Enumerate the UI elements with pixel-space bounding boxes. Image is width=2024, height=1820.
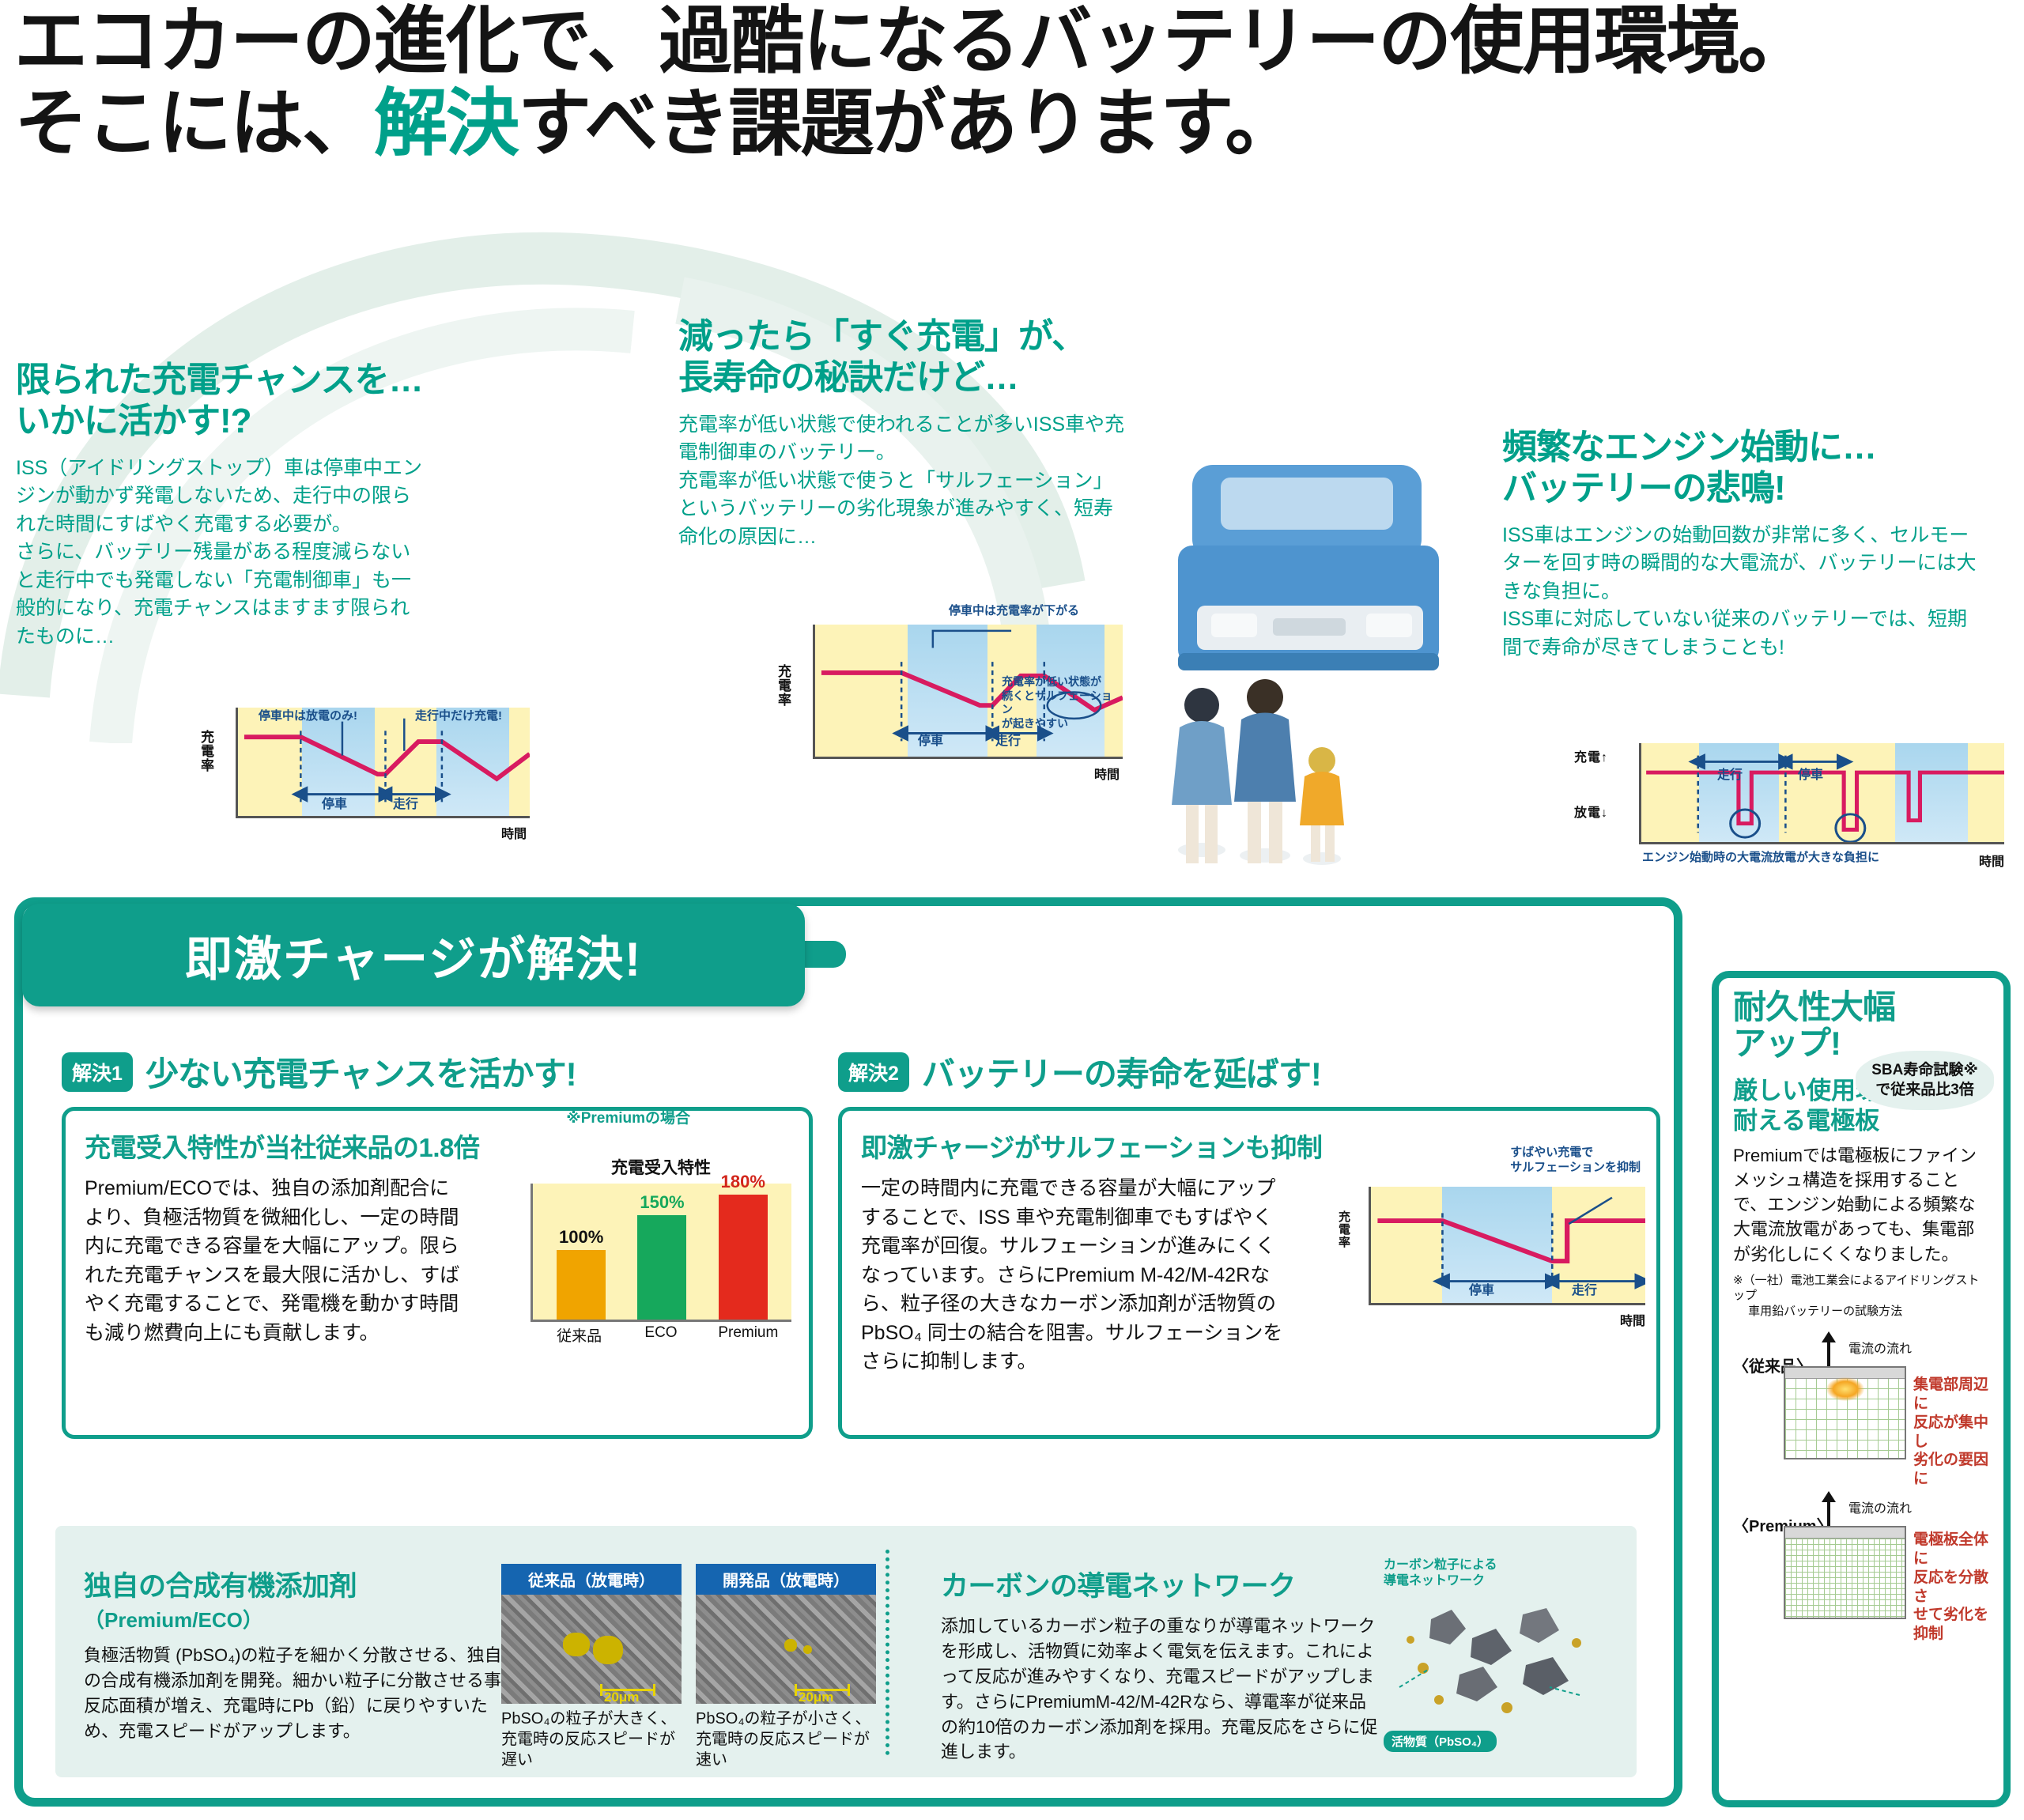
chart-soc-iss: 充電率 停車中は放電のみ! 走行中 [198, 708, 530, 818]
sem-photo-conventional: 20μm [501, 1595, 682, 1704]
chart-soc-iss-xlabel: 時間 [501, 823, 527, 842]
current-label-conventional: 電流の流れ [1848, 1338, 1912, 1357]
headline-line-1: エコカーの進化で、過酷になるバッテリーの使用環境。 [14, 0, 2022, 82]
chart-sulfation-ylabel: 充電率 [1335, 1210, 1352, 1248]
chart-soc-low-xlabel: 時間 [1094, 764, 1120, 783]
problem-3-title-line2: バッテリーの悲鳴! [1502, 469, 1785, 508]
problem-1-title-line1: 限られた充電チャンスを… [16, 361, 423, 399]
bar-value-0: 100% [559, 1227, 603, 1248]
headline-line-2: そこには、解決すべき課題があります。 [14, 82, 2022, 164]
durability-body: Premiumでは電極板にファインメッシュ構造を採用することで、エンジン始動によ… [1733, 1143, 1989, 1267]
problem-1-title-line2: いかに活かす!? [16, 402, 251, 440]
problem-1-title: 限られた充電チャンスを… いかに活かす!? [16, 360, 427, 442]
additive-block: 独自の合成有機添加剤 （Premium/ECO） 負極活物質 (PbSO₄)の粒… [84, 1564, 519, 1744]
chart-sulfation-xlabel: 時間 [1620, 1310, 1645, 1329]
current-arrow-premium [1817, 1491, 1841, 1526]
carbon-network-body: 添加しているカーボン粒子の重なりが導電ネットワークを形成し、活物質に効率よく電気… [941, 1614, 1384, 1765]
problem-2-title: 減ったら「すぐ充電」が、 長寿命の秘訣だけど… [678, 316, 1129, 398]
chart-current-spike-note: エンジン始動時の大電流放電が大きな負担に [1642, 851, 1879, 866]
solution-1-title: 少ない充電チャンスを活かす! [145, 1048, 576, 1096]
sem-desc-conventional: PbSO₄の粒子が大きく、 充電時の反応スピードが遅い [501, 1709, 682, 1770]
chart-sulfation-seg-0: 停車 [1469, 1279, 1494, 1298]
plate-premium-group: 〈Premium〉 電流の流れ 電極板全体に 反応を分散さ せて劣化を 抑制 [1733, 1491, 1989, 1626]
solution-card-1: 解決1 少ない充電チャンスを活かす! ※Premiumの場合 充電受入特性が当社… [62, 1048, 813, 1439]
bar-chart-plot: 100% 150% 180% [531, 1184, 791, 1322]
sem-image-developed: 開発品（放電時） 20μm PbSO₄の粒子が小さく、 充電時の反応スピードが速… [696, 1564, 876, 1770]
plate-conventional [1784, 1366, 1906, 1459]
solution-1-premium-note: ※Premiumの場合 [566, 1106, 690, 1127]
problem-2-title-line1: 減ったら「すぐ充電」が、 [678, 317, 1086, 356]
problem-3-title-line1: 頻繁なエンジン始動に… [1502, 428, 1876, 466]
car-and-family-photo [1154, 451, 1494, 925]
plate-conventional-note: 集電部周辺に 反応が集中し 劣化の要因に [1913, 1376, 1989, 1489]
chart-soc-low-note-0: 停車中は充電率が下がる [949, 604, 1079, 619]
chart-current-spike: 充電↑ 放電↓ 走行 [1577, 743, 2004, 844]
durability-title: 耐久性大幅 アップ! [1733, 989, 1989, 1062]
chart-current-spike-ylabel-bottom: 放電↓ [1574, 802, 1608, 821]
solution-1-body: Premium/ECOでは、独自の添加剤配合により、負極活物質を微細化し、一定の… [85, 1174, 464, 1347]
durability-footnote: ※（一社）電池工業会によるアイドリングストップ 車用鉛バッテリーの試験方法 [1733, 1273, 1989, 1320]
carbon-network-diagram-label-bottom: 活物質（PbSO₄） [1384, 1731, 1497, 1752]
solution-2-title: バッテリーの寿命を延ばす! [922, 1048, 1321, 1096]
solution-2-badge: 解決2 [838, 1052, 909, 1092]
solution-tab-label: 即激チャージが解決! [185, 921, 642, 990]
chart-sulfation-note: すばやい充電で サルフェーションを抑制 [1510, 1146, 1641, 1176]
bar-Premium: 180% [719, 1195, 768, 1320]
chart-current-spike-seg-1: 停車 [1798, 764, 1823, 783]
carbon-network-diagram: カーボン粒子による 導電ネットワーク 活物質（PbSO₄） [1384, 1558, 1621, 1763]
problem-2-title-line2: 長寿命の秘訣だけど… [678, 358, 1018, 397]
chart-soc-low: 充電率 停車 走行 [775, 625, 1123, 759]
sem-desc-developed: PbSO₄の粒子が小さく、 充電時の反応スピードが速い [696, 1709, 876, 1770]
solution-1-header: 解決1 少ない充電チャンスを活かす! [62, 1048, 813, 1096]
durability-bubble-line2: で従来品比3倍 [1864, 1081, 1986, 1101]
chart-soc-iss-ylabel: 充電率 [196, 730, 216, 772]
chart-soc-low-note-1: 充電率が低い状態が 続くとサルフェーション が起きやすい [1002, 675, 1123, 731]
chart-current-spike-seg-0: 走行 [1717, 764, 1743, 783]
problem-3-body: ISS車はエンジンの始動回数が非常に多く、セルモーターを回す時の瞬間的な大電流が… [1502, 522, 1977, 663]
blue-car-illustration [1178, 465, 1439, 670]
plate-premium [1784, 1526, 1906, 1619]
page-headline: エコカーの進化で、過酷になるバッテリーの使用環境。 そこには、解決すべき課題があ… [14, 0, 2022, 164]
infographic-page: エコカーの進化で、過酷になるバッテリーの使用環境。 そこには、解決すべき課題があ… [0, 0, 2024, 1820]
chart-soc-iss-seg-0: 停車 [322, 793, 347, 812]
chart-soc-low-seg-0: 停車 [918, 730, 943, 749]
sem-scale-label-developed: 20μm [799, 1690, 833, 1704]
chart-soc-iss-note-0: 停車中は放電のみ! [259, 709, 357, 724]
bar-value-1: 150% [640, 1192, 684, 1213]
problem-block-recharge-immediately: 減ったら「すぐ充電」が、 長寿命の秘訣だけど… 充電率が低い状態で使われることが… [678, 316, 1129, 551]
chart-soc-low-seg-1: 走行 [995, 730, 1021, 749]
chart-soc-iss-note-1: 走行中だけ充電! [415, 709, 502, 724]
solution-2-box: 即激チャージがサルフェーションも抑制 一定の時間内に充電できる容量が大幅にアップ… [838, 1107, 1660, 1439]
solution-2-header: 解決2 バッテリーの寿命を延ばす! [838, 1048, 1660, 1096]
solution-tab-header: 即激チャージが解決! [22, 904, 805, 1006]
bar-category-0: 従来品 [555, 1324, 604, 1346]
solution-card-2: 解決2 バッテリーの寿命を延ばす! 即激チャージがサルフェーションも抑制 一定の… [838, 1048, 1660, 1439]
sem-image-conventional: 従来品（放電時） 20μm PbSO₄の粒子が大きく、 充電時の反応スピードが遅… [501, 1564, 682, 1770]
problem-2-body: 充電率が低い状態で使われることが多いISS車や充電制御車のバッテリー。 充電率が… [678, 411, 1129, 552]
bar-category-1: ECO [636, 1324, 685, 1346]
bar-ECO: 150% [637, 1215, 686, 1320]
solution-2-body: 一定の時間内に充電できる容量が大幅にアップすることで、ISS 車や充電制御車でも… [861, 1174, 1288, 1376]
bar-category-2: Premium [718, 1324, 767, 1346]
durability-callout-bubble: SBA寿命試験※ で従来品比3倍 [1856, 1051, 1994, 1110]
chart-soc-iss-seg-1: 走行 [393, 793, 418, 812]
problem-3-title: 頻繁なエンジン始動に… バッテリーの悲鳴! [1502, 427, 1977, 509]
additive-body: 負極活物質 (PbSO₄)の粒子を細かく分散させる、独自の合成有機添加剤を開発。… [84, 1643, 519, 1744]
plate-premium-note: 電極板全体に 反応を分散さ せて劣化を 抑制 [1913, 1531, 1989, 1644]
current-arrow-conventional [1817, 1331, 1841, 1366]
additive-title: 独自の合成有機添加剤 [84, 1564, 519, 1604]
bar-chart-categories: 従来品 ECO Premium [531, 1322, 791, 1346]
durability-panel: 耐久性大幅 アップ! SBA寿命試験※ で従来品比3倍 厳しい使用環境に 耐える… [1712, 971, 2011, 1807]
carbon-particles-svg [1384, 1592, 1621, 1727]
sem-caption-developed: 開発品（放電時） [696, 1564, 876, 1595]
durability-subtitle-line2: 耐える電極板 [1733, 1107, 1879, 1135]
plate-conventional-group: 〈従来品〉 電流の流れ 集電部周辺に 反応が集中し 劣化の要因に [1733, 1331, 1989, 1464]
sem-scale-label-conventional: 20μm [604, 1690, 639, 1704]
current-label-premium: 電流の流れ [1848, 1497, 1912, 1516]
solution-1-box: ※Premiumの場合 充電受入特性が当社従来品の1.8倍 Premium/EC… [62, 1107, 813, 1439]
chart-sulfation-suppressed: すばやい充電で サルフェーションを抑制 充電率 [1337, 1187, 1645, 1305]
carbon-network-block: カーボンの導電ネットワーク 添加しているカーボン粒子の重なりが導電ネットワークを… [941, 1564, 1384, 1765]
sem-caption-conventional: 従来品（放電時） [501, 1564, 682, 1595]
problem-block-frequent-engine-start: 頻繁なエンジン始動に… バッテリーの悲鳴! ISS車はエンジンの始動回数が非常に… [1502, 427, 1977, 662]
headline-accent-word: 解決 [374, 82, 518, 164]
additive-subtitle: （Premium/ECO） [84, 1604, 519, 1633]
durability-bubble-line1: SBA寿命試験※ [1864, 1061, 1986, 1081]
sem-photo-developed: 20μm [696, 1595, 876, 1704]
carbon-network-title: カーボンの導電ネットワーク [941, 1564, 1384, 1604]
chart-sulfation-seg-1: 走行 [1572, 1279, 1597, 1298]
charge-acceptance-bar-chart: 充電受入特性 100% 150% 180% 従来品 ECO Premium [531, 1155, 791, 1346]
bottom-panel-divider [885, 1550, 889, 1755]
carbon-network-diagram-label-top: カーボン粒子による 導電ネットワーク [1384, 1558, 1621, 1589]
solution-1-badge: 解決1 [62, 1052, 133, 1092]
headline-line2-suffix: すべき課題があります。 [518, 82, 1297, 164]
chart-current-spike-ylabel-top: 充電↑ [1574, 746, 1608, 765]
bar-value-2: 180% [721, 1172, 765, 1192]
problem-block-limited-charge-chance: 限られた充電チャンスを… いかに活かす!? ISS（アイドリングストップ）車は停… [16, 360, 427, 651]
headline-line2-prefix: そこには、 [14, 82, 374, 164]
chart-current-spike-xlabel: 時間 [1979, 851, 2004, 870]
durability-title-line1: 耐久性大幅 [1733, 988, 1895, 1025]
family-figurines [1172, 679, 1344, 865]
bar-従来品: 100% [557, 1250, 606, 1320]
durability-title-line2: アップ! [1733, 1025, 1841, 1062]
chart-soc-low-ylabel: 充電率 [773, 664, 793, 707]
problem-1-body: ISS（アイドリングストップ）車は停車中エンジンが動かず発電しないため、走行中の… [16, 455, 427, 651]
